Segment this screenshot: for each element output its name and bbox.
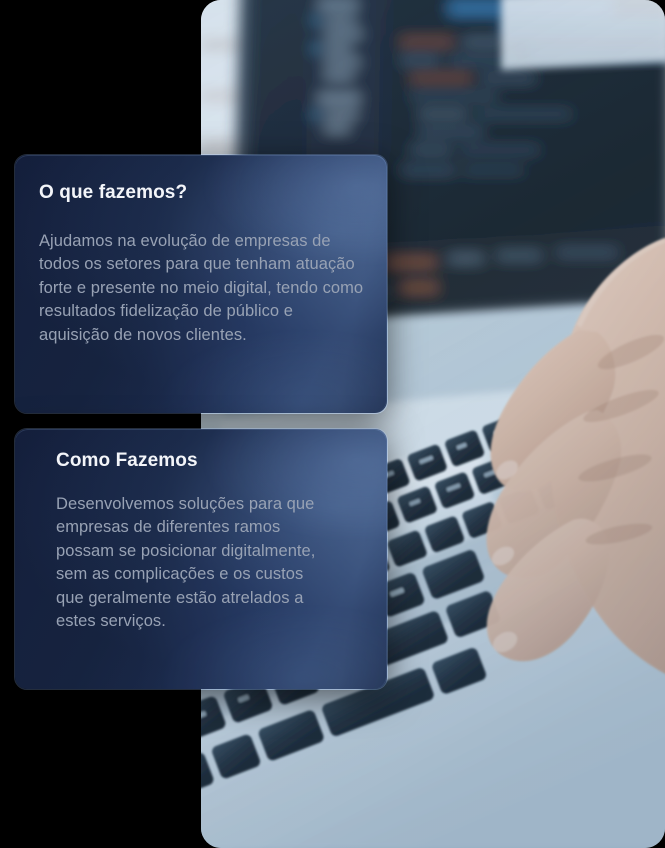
card-how-we-do-body: Desenvolvemos soluções para que empresas…	[56, 493, 326, 634]
hero-photo	[201, 0, 665, 848]
card-content: O que fazemos? Ajudamos na evolução de e…	[15, 155, 387, 347]
page-root: O que fazemos? Ajudamos na evolução de e…	[0, 0, 665, 848]
card-content: Como Fazemos Desenvolvemos soluções para…	[15, 429, 387, 634]
photo-illustration	[201, 0, 665, 848]
card-what-we-do-title: O que fazemos?	[39, 181, 365, 205]
card-how-we-do-title: Como Fazemos	[56, 449, 365, 473]
card-what-we-do-body: Ajudamos na evolução de empresas de todo…	[39, 230, 365, 348]
card-how-we-do: Como Fazemos Desenvolvemos soluções para…	[14, 428, 388, 690]
card-what-we-do: O que fazemos? Ajudamos na evolução de e…	[14, 154, 388, 414]
